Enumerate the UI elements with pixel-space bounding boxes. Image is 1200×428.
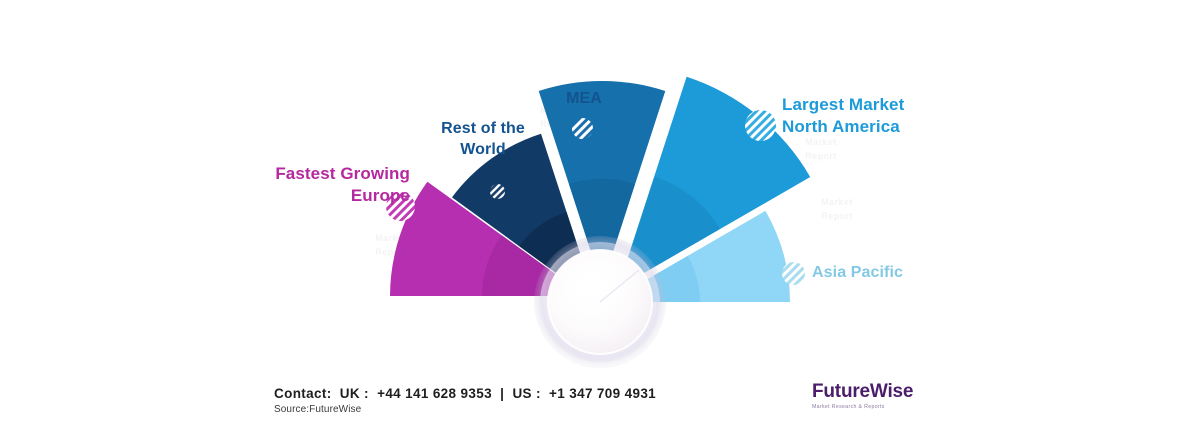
footer-contact-block: Contact: UK : +44 141 628 9353 | US : +1… bbox=[274, 386, 656, 415]
label-europe: Fastest Growing Europe bbox=[218, 163, 410, 208]
logo-wordmark: FutureWise bbox=[812, 381, 913, 402]
marker-asia-pacific-icon bbox=[782, 262, 805, 285]
ghost-watermark: Market Report bbox=[766, 136, 876, 163]
ghost-watermark: Market Report bbox=[336, 232, 446, 259]
label-rest-of-world: Rest of the World bbox=[414, 118, 552, 160]
contact-line: Contact: UK : +44 141 628 9353 | US : +1… bbox=[274, 386, 656, 401]
infographic-canvas: Market Report Market Report Market Repor… bbox=[0, 0, 1200, 428]
label-asia-pacific: Asia Pacific bbox=[812, 262, 1002, 283]
label-north-america: Largest Market North America bbox=[782, 94, 992, 139]
logo-wordmark-row: FutureWise bbox=[812, 382, 913, 402]
logo-tagline: Market Research & Reports bbox=[812, 404, 932, 412]
label-mea: MEA bbox=[528, 88, 640, 109]
ghost-watermark: Market Report bbox=[792, 196, 882, 223]
source-line: Source:FutureWise bbox=[274, 404, 656, 415]
marker-rest-of-world-icon bbox=[490, 184, 505, 199]
futurewise-logo[interactable]: FutureWise Market Research & Reports bbox=[812, 382, 932, 412]
logo-word-future: Future bbox=[812, 381, 870, 402]
fan-chart bbox=[0, 0, 1200, 428]
logo-word-wise: Wise bbox=[870, 381, 913, 402]
center-knob bbox=[534, 236, 666, 368]
